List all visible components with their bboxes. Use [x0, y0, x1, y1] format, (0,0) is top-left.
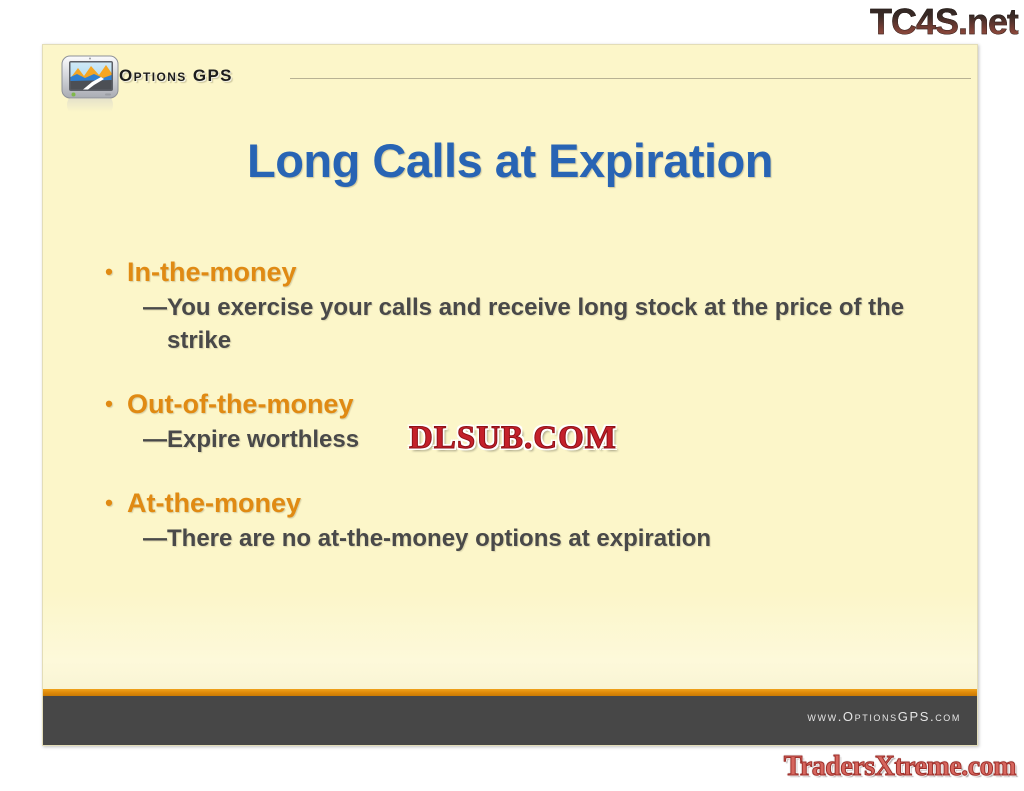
bullet-level1-label: At-the-money: [127, 484, 301, 522]
slide-header: Options GPS: [43, 45, 977, 105]
gps-device-icon: [61, 55, 119, 101]
bullet-dot-icon: •: [91, 484, 127, 522]
footer-url-label: www.OptionsGPS.com: [807, 709, 961, 724]
bullet-dot-icon: •: [91, 385, 127, 423]
bullet-level2-text: You exercise your calls and receive long…: [167, 291, 953, 357]
bullet-group-at-the-money: • At-the-money — There are no at-the-mon…: [91, 484, 953, 555]
bullet-level1-label: In-the-money: [127, 253, 297, 291]
tradersxtreme-watermark: TradersXtreme.com: [784, 751, 1016, 783]
em-dash-icon: —: [143, 423, 167, 456]
bullet-level1: • In-the-money: [91, 253, 953, 291]
bullet-group-in-the-money: • In-the-money — You exercise your calls…: [91, 253, 953, 357]
presentation-slide: Options GPS Long Calls at Expiration • I…: [42, 44, 978, 746]
tc4s-watermark: TC4S.net: [870, 2, 1018, 42]
bullet-dot-icon: •: [91, 253, 127, 291]
bullet-level2: — You exercise your calls and receive lo…: [143, 291, 953, 357]
bullet-level1: • At-the-money: [91, 484, 953, 522]
slide-footer: www.OptionsGPS.com: [43, 696, 977, 745]
page-title: Long Calls at Expiration: [43, 133, 977, 188]
logo-reflection: [67, 98, 113, 112]
em-dash-icon: —: [143, 522, 167, 555]
brand-title: Options GPS: [119, 66, 233, 86]
bullet-level2: — There are no at-the-money options at e…: [143, 522, 953, 555]
dlsub-watermark: DLSUB.COM: [409, 420, 617, 457]
em-dash-icon: —: [143, 291, 167, 324]
footer-accent-rule: [43, 689, 977, 696]
bullet-level1-label: Out-of-the-money: [127, 385, 353, 423]
bullet-level1: • Out-of-the-money: [91, 385, 953, 423]
bullet-level2-text: Expire worthless: [167, 423, 359, 456]
slide-body: • In-the-money — You exercise your calls…: [91, 253, 953, 563]
header-divider: [290, 78, 971, 79]
bullet-level2-text: There are no at-the-money options at exp…: [167, 522, 711, 555]
